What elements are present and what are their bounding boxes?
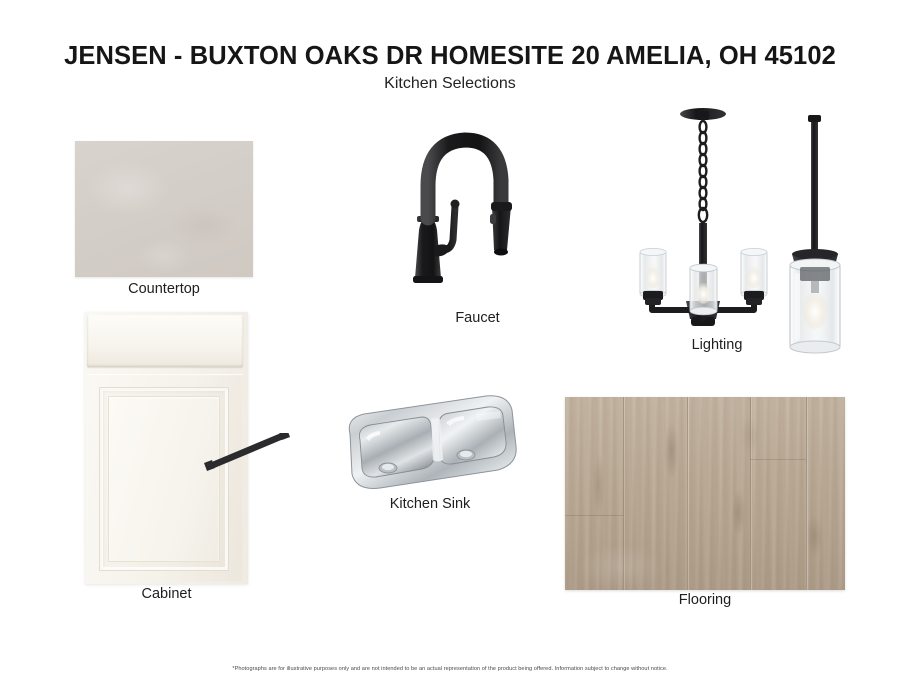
selection-countertop: Countertop (75, 141, 253, 277)
cabinet-label: Cabinet (85, 586, 248, 602)
selection-cabinet: Cabinet (85, 312, 248, 584)
countertop-swatch-image (75, 141, 253, 277)
flooring-knot-texture (565, 397, 845, 590)
chandelier-shade-right (741, 248, 767, 305)
disclaimer-text: *Photographs are for illustrative purpos… (0, 666, 900, 672)
page-subtitle: Kitchen Selections (0, 75, 900, 93)
flooring-swatch-image (565, 397, 845, 590)
cabinet-recessed-panel (108, 396, 220, 562)
countertop-label: Countertop (75, 281, 253, 297)
cabinet-drawer-front (87, 315, 243, 367)
cabinet-door-frame (99, 387, 229, 571)
chandelier-shade-left (640, 248, 666, 305)
chandelier-fixture-icon (640, 108, 767, 326)
cabinet-door-image (85, 312, 248, 584)
flooring-label: Flooring (565, 592, 845, 608)
kitchen-sink-image (336, 388, 524, 496)
selections-sheet: JENSEN - BUXTON OAKS DR HOMESITE 20 AMEL… (0, 0, 900, 695)
selection-flooring: Flooring (565, 397, 845, 590)
selection-lighting: Lighting (612, 105, 867, 355)
selection-faucet: Faucet (395, 110, 560, 310)
faucet-image (395, 110, 560, 310)
faucet-label: Faucet (395, 310, 560, 326)
selection-kitchen-sink: Kitchen Sink (336, 388, 524, 496)
lighting-label: Lighting (612, 337, 822, 353)
chandelier-shade-center (690, 264, 717, 315)
pendant-fixture-icon (790, 115, 840, 353)
kitchen-sink-label: Kitchen Sink (336, 496, 524, 512)
page-title: JENSEN - BUXTON OAKS DR HOMESITE 20 AMEL… (0, 42, 900, 71)
lighting-image (612, 105, 867, 355)
